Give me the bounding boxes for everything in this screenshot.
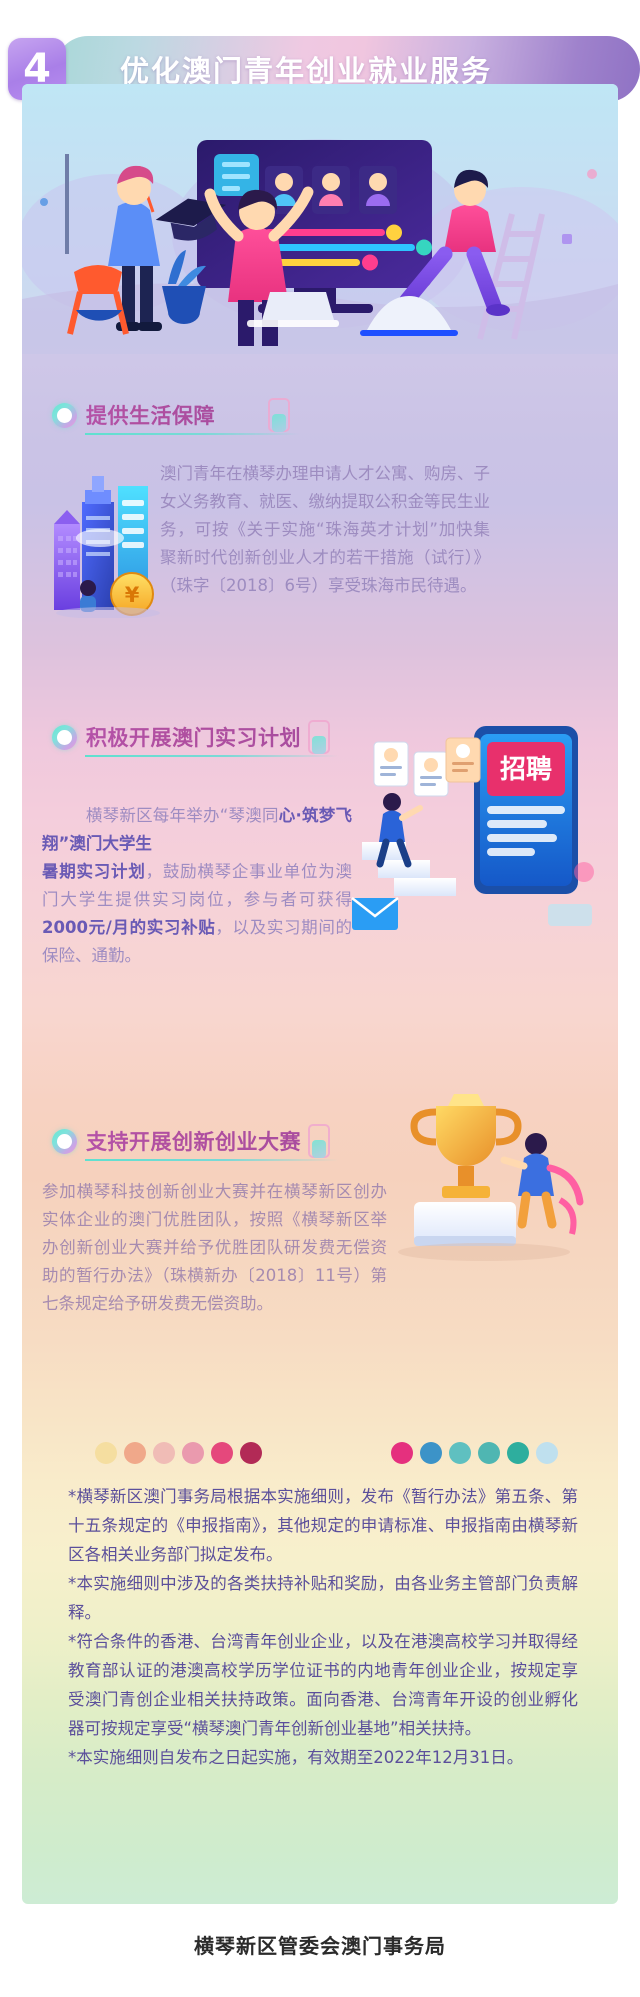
section-3-underline <box>85 1159 339 1161</box>
section-3-title: 支持开展创新创业大赛 <box>86 1126 301 1156</box>
publisher-name: 横琴新区管委会澳门事务局 <box>0 1930 640 1959</box>
svg-text:¥: ¥ <box>125 583 140 607</box>
decorative-dots-left <box>95 1442 262 1464</box>
section-3-body: 参加横琴科技创新创业大赛并在横琴新区创办实体企业的澳门优胜团队，按照《横琴新区举… <box>42 1178 387 1318</box>
section-2-body: 横琴新区每年举办“琴澳同心·筑梦飞翔”澳门大学生 暑期实习计划，鼓励横琴企事业单… <box>42 774 352 998</box>
svg-text:招聘: 招聘 <box>500 755 552 785</box>
dot <box>95 1442 117 1464</box>
dot <box>420 1442 442 1464</box>
circle-bullet-icon <box>52 1129 77 1154</box>
decorative-dots-right <box>391 1442 558 1464</box>
circle-bullet-icon <box>52 725 77 750</box>
dot <box>211 1442 233 1464</box>
circle-bullet-icon <box>52 403 77 428</box>
recruitment-phone-illustration: 招聘 <box>344 722 604 937</box>
dot <box>182 1442 204 1464</box>
section-2-title: 积极开展澳门实习计划 <box>86 722 301 752</box>
section-1-header: 提供生活保障 <box>22 400 618 430</box>
footnotes: *横琴新区澳门事务局根据本实施细则，发布《暂行办法》第五条、第十五条规定的《申报… <box>68 1482 578 1772</box>
trophy-illustration <box>374 1082 594 1272</box>
infographic-poster: 4 优化澳门青年创业就业服务 <box>0 0 640 1997</box>
section-2-body-text: 横琴新区每年举办“琴澳同心·筑梦飞翔”澳门大学生 暑期实习计划，鼓励横琴企事业单… <box>42 806 352 965</box>
dot <box>240 1442 262 1464</box>
section-1-underline <box>85 433 300 435</box>
dot <box>153 1442 175 1464</box>
city-buildings-coin-illustration: ¥ <box>52 468 164 618</box>
dot <box>536 1442 558 1464</box>
dot <box>449 1442 471 1464</box>
tag-decoration-icon <box>308 1124 330 1158</box>
tag-decoration-icon <box>308 720 330 754</box>
dot <box>391 1442 413 1464</box>
section-innovation-contest: 支持开展创新创业大赛 <box>22 1126 618 1156</box>
tag-decoration-icon <box>268 398 290 432</box>
content-panel: 提供生活保障 <box>22 84 618 1904</box>
dot <box>124 1442 146 1464</box>
section-life-security: 提供生活保障 <box>22 400 618 430</box>
section-2-underline <box>85 755 339 757</box>
hero-illustration <box>22 84 618 354</box>
section-internship-plan: 积极开展澳门实习计划 <box>22 722 618 752</box>
dot <box>478 1442 500 1464</box>
dot <box>507 1442 529 1464</box>
section-1-body: 澳门青年在横琴办理申请人才公寓、购房、子女义务教育、就医、缴纳提取公积金等民生业… <box>160 460 490 600</box>
section-1-title: 提供生活保障 <box>86 400 215 430</box>
